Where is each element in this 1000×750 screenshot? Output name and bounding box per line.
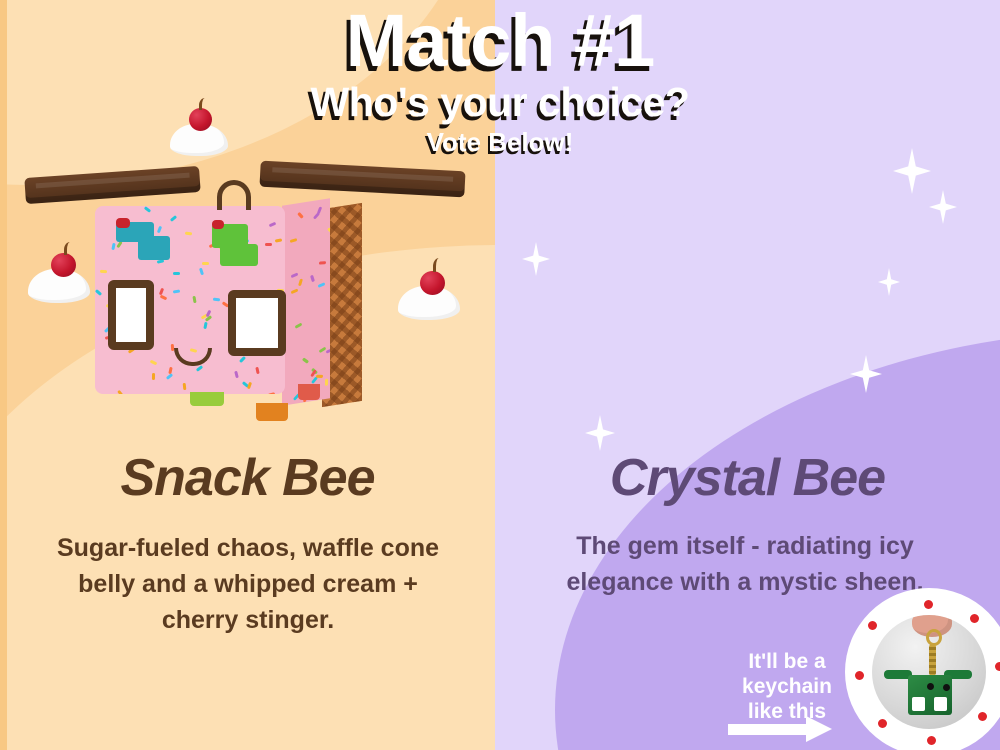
sprinkle-icon (325, 379, 328, 386)
keychain-product-photo (872, 615, 986, 729)
sprinkle-icon (255, 367, 259, 374)
sprinkle-icon (144, 207, 151, 214)
sprinkle-icon (150, 360, 158, 366)
crystal-bee-description: The gem itself - radiating icy elegance … (535, 528, 955, 600)
badge-dot-1 (924, 600, 933, 609)
arrow-right-icon (728, 716, 838, 740)
sprinkle-icon (247, 382, 252, 390)
badge-dot-5 (927, 736, 936, 745)
sprinkle-icon (290, 238, 297, 243)
sparkle-icon-1 (893, 148, 931, 194)
sprinkle-icon (152, 373, 155, 380)
sprinkle-icon (202, 262, 209, 265)
sprinkle-icon (265, 243, 272, 246)
keychain-eye-right (934, 697, 947, 711)
sprinkle-icon (318, 282, 326, 288)
foot-red (298, 384, 320, 400)
sprinkle-icon (302, 357, 309, 363)
chocolate-wing-right-icon (259, 161, 465, 198)
sprinkle-icon (157, 226, 162, 234)
sparkle-icon-5 (585, 415, 615, 451)
badge-dot-8 (868, 621, 877, 630)
antenna-icon (217, 180, 251, 210)
eye-right (228, 290, 286, 356)
cherry-cream-decoration-1 (170, 100, 228, 156)
sprinkle-icon (111, 243, 115, 250)
keychain-callout-line-2: keychain (712, 675, 862, 700)
sprinkle-icon (239, 356, 246, 363)
crystal-bee-name-label: Crystal Bee (495, 448, 1000, 508)
sprinkle-icon (185, 232, 192, 236)
cherry-cream-decoration-2 (28, 245, 90, 303)
sprinkle-icon (159, 287, 164, 295)
chain-icon (929, 644, 936, 676)
sprinkle-icon (95, 289, 102, 296)
sprinkle-icon (290, 272, 298, 278)
sprinkle-icon (310, 274, 315, 282)
red-chip-icon (116, 218, 130, 228)
green-block-icon-2 (220, 244, 258, 266)
sparkle-icon-4 (522, 242, 550, 276)
sprinkle-icon (196, 365, 203, 372)
badge-dot-4 (978, 712, 987, 721)
teal-block-icon-2 (138, 236, 170, 260)
sprinkle-icon (213, 298, 220, 302)
keychain-callout-line-1: It'll be a (712, 650, 862, 675)
sprinkle-icon (234, 371, 239, 379)
sprinkle-icon (327, 227, 330, 234)
keychain-eye-left (912, 697, 925, 711)
snack-bee-panel[interactable]: Snack Bee Sugar-fueled chaos, waffle con… (0, 0, 495, 750)
sprinkle-icon (291, 289, 299, 295)
badge-dot-3 (995, 662, 1000, 671)
sprinkle-icon (297, 212, 304, 219)
background-wave-purple-light (495, 0, 1000, 355)
snack-bee-description: Sugar-fueled chaos, waffle cone belly an… (38, 530, 458, 638)
red-chip-icon-2 (212, 220, 224, 229)
sprinkle-icon (182, 383, 186, 390)
eye-left (108, 280, 154, 350)
foot-green (190, 392, 224, 406)
sprinkle-icon (268, 392, 276, 394)
sprinkle-icon (117, 241, 123, 248)
sprinkle-icon (313, 212, 320, 219)
sprinkle-icon (193, 296, 197, 303)
sparkle-icon-6 (850, 355, 882, 393)
sprinkle-icon (268, 221, 276, 227)
sprinkle-icon (173, 290, 180, 294)
background-wave-orange-top (0, 0, 480, 185)
keychain-photo-badge[interactable] (845, 588, 1000, 750)
chocolate-wing-left-icon (24, 166, 200, 204)
sprinkle-icon (295, 323, 303, 329)
sprinkle-icon (203, 322, 207, 329)
sprinkle-icon (166, 373, 173, 380)
sprinkle-icon (319, 262, 326, 266)
poster-canvas: Snack Bee Sugar-fueled chaos, waffle con… (0, 0, 1000, 750)
sprinkle-icon (160, 295, 168, 301)
sprinkle-icon (170, 215, 177, 222)
sprinkle-icon (275, 238, 282, 242)
sprinkle-icon (117, 390, 124, 394)
badge-dot-2 (970, 614, 979, 623)
left-edge-strip (0, 0, 7, 750)
keychain-stud-left (927, 683, 934, 690)
sprinkle-icon (173, 272, 180, 275)
snack-bee-name-label: Snack Bee (0, 448, 495, 508)
sprinkle-icon (199, 267, 204, 275)
pink-side-face (282, 198, 330, 406)
badge-dot-6 (878, 719, 887, 728)
keychain-callout-text: It'll be a keychain like this (712, 650, 862, 724)
sprinkle-icon (100, 270, 107, 273)
keychain-stud-right (943, 684, 950, 691)
sprinkle-icon (298, 278, 303, 285)
cherry-cream-decoration-3 (398, 262, 460, 320)
sparkle-icon-2 (929, 190, 957, 224)
foot-orange (256, 403, 288, 421)
sparkle-icon-3 (878, 268, 900, 296)
sprinkle-icon (316, 375, 323, 378)
